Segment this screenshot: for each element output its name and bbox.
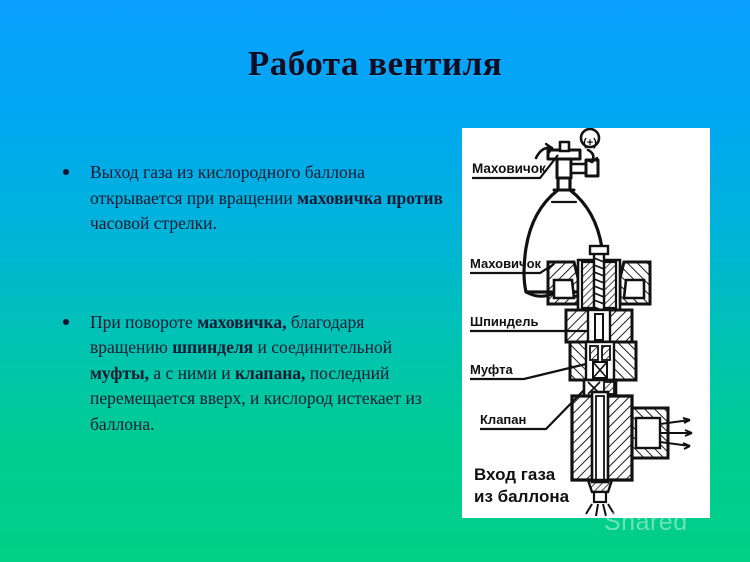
label-valve: Клапан [480, 412, 526, 427]
bullet-2-bold3: муфты, [90, 363, 149, 383]
slide-canvas: Работа вентиля Выход газа из кислородног… [0, 0, 750, 562]
bullet-2-text-part1: При повороте [90, 312, 197, 332]
label-handwheel-top: Маховичок [472, 161, 546, 176]
page-title: Работа вентиля [0, 44, 750, 84]
bullet-2-text-part3: и соединительной [253, 337, 392, 357]
bullet-dot-icon [63, 319, 69, 325]
bullet-1-bold1: маховичка против [297, 188, 443, 208]
bullet-dot-icon [63, 169, 69, 175]
label-inlet-line2: из баллона [474, 487, 570, 506]
bullet-2-bold1: маховичка, [197, 312, 286, 332]
bullet-2-bold2: шпинделя [172, 337, 253, 357]
bullet-2-text-part4: а с ними и [149, 363, 235, 383]
bullet-list: Выход газа из кислородного баллона откры… [52, 160, 444, 437]
label-spindle: Шпиндель [470, 314, 539, 329]
bullet-2-bold4: клапана, [235, 363, 305, 383]
valve-diagram: (+) Маховичок [462, 128, 710, 518]
label-inlet-line1: Вход газа [474, 465, 556, 484]
label-coupling: Муфта [470, 362, 513, 377]
label-handwheel-section: Маховичок [470, 256, 542, 271]
bullet-1-text-part2: часовой стрелки. [90, 213, 217, 233]
list-item: При повороте маховичка, благодаря вращен… [52, 310, 444, 438]
list-item: Выход газа из кислородного баллона откры… [52, 160, 444, 237]
valve-diagram-panel: (+) Маховичок [462, 128, 710, 518]
rotation-symbol-label: (+) [583, 137, 597, 149]
